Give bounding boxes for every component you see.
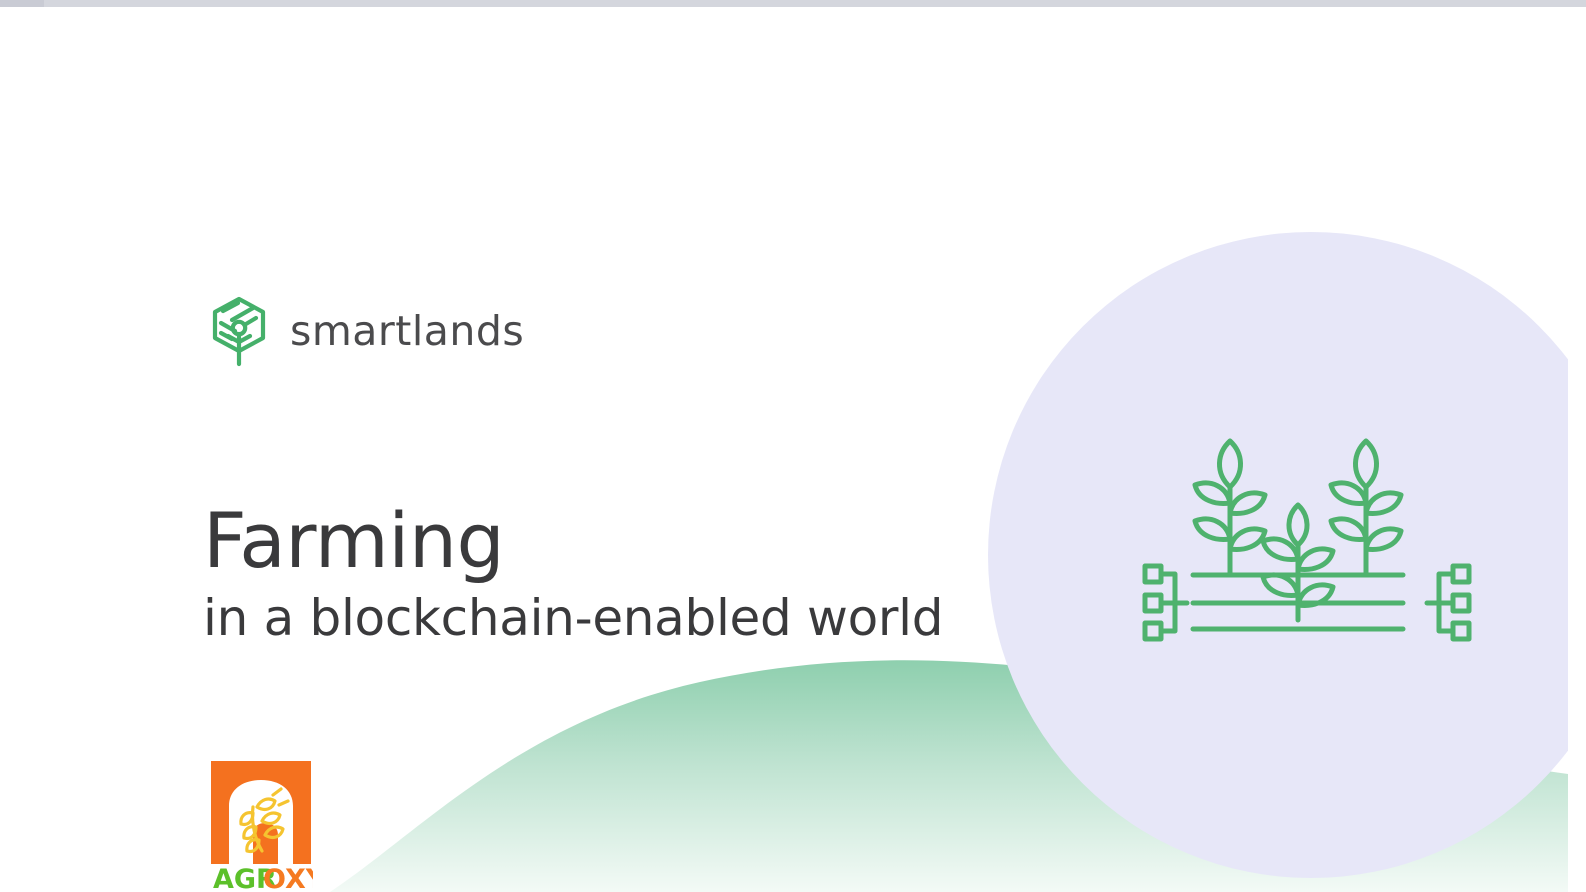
smartlands-brand-lockup: smartlands [208, 295, 524, 367]
agroxy-logo: AGR OXY [209, 761, 313, 892]
slide-screen: smartlands Farming in a blockchain-enabl… [0, 0, 1586, 892]
headline-primary: Farming [203, 503, 963, 579]
right-gutter [1568, 7, 1586, 892]
smartlands-cube-sprout-icon [208, 295, 270, 367]
headline-block: Farming in a blockchain-enabled world [203, 503, 963, 648]
agroxy-wordmark-orange: OXY [263, 864, 313, 892]
presentation-slide: smartlands Farming in a blockchain-enabl… [0, 7, 1568, 892]
browser-chrome-strip [0, 0, 1586, 7]
headline-secondary: in a blockchain-enabled world [203, 589, 963, 648]
blockchain-crops-illustration [1137, 427, 1477, 652]
smartlands-wordmark: smartlands [290, 311, 524, 352]
browser-tab-stub[interactable] [0, 0, 44, 7]
